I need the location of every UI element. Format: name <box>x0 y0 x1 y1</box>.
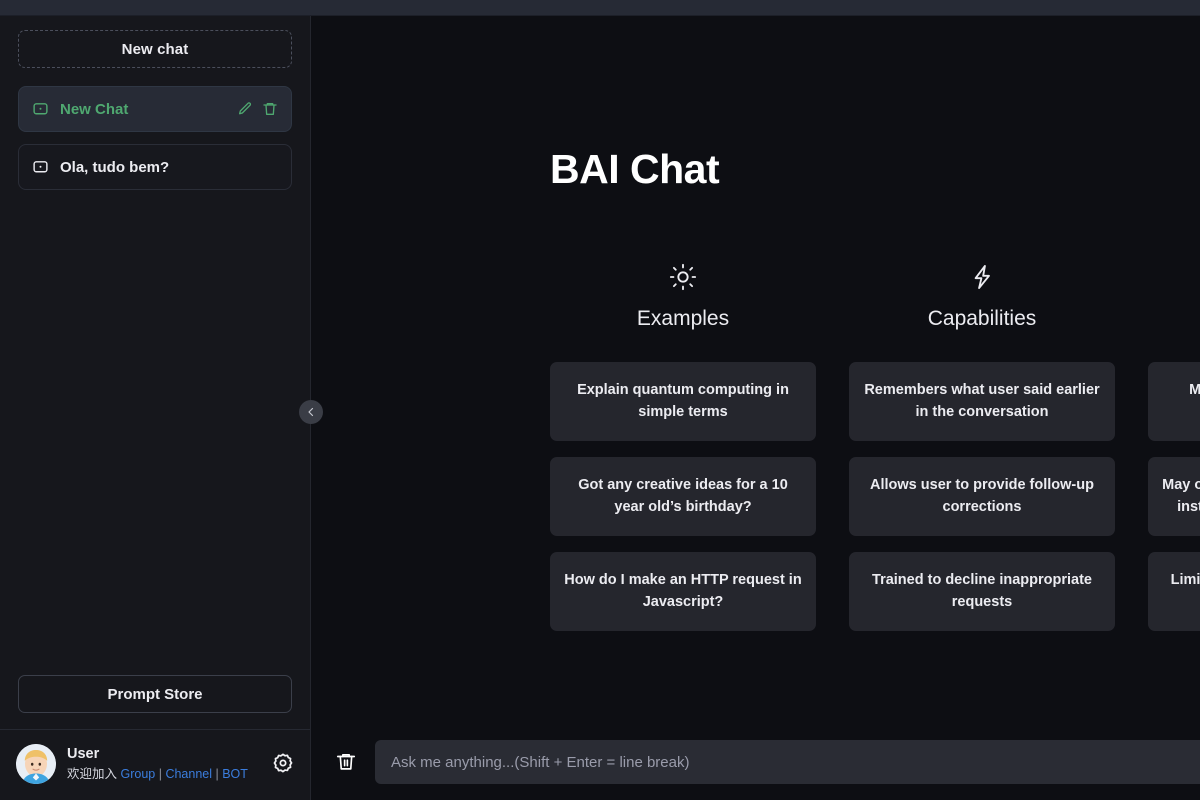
channel-link[interactable]: Channel <box>165 767 212 781</box>
message-input[interactable] <box>375 740 1200 784</box>
column-header: Capabilities <box>849 263 1115 331</box>
column-examples: Examples Explain quantum computing in si… <box>550 263 816 631</box>
main-content: BAI Chat Examples <box>311 16 1200 800</box>
chat-list-item-label: New Chat <box>60 101 226 118</box>
sidebar-header: New chat <box>0 16 310 68</box>
profile-name: User <box>67 744 261 765</box>
window-chrome-strip <box>0 0 1200 16</box>
limitation-card: Limited knowledge of world and events af… <box>1148 552 1200 631</box>
lightning-bolt-icon <box>968 263 996 291</box>
prompt-store-section: Prompt Store <box>0 675 310 729</box>
pencil-icon[interactable] <box>237 101 253 117</box>
group-link[interactable]: Group <box>120 767 155 781</box>
welcome-prefix: 欢迎加入 <box>67 767 120 781</box>
profile-subtitle: 欢迎加入 Group | Channel | BOT <box>67 765 261 783</box>
sun-icon <box>669 263 697 291</box>
new-chat-label: New chat <box>122 41 189 58</box>
prompt-store-label: Prompt Store <box>107 686 202 703</box>
column-capabilities: Capabilities Remembers what user said ea… <box>849 263 1115 631</box>
app-root: New chat New Chat <box>0 0 1200 800</box>
clear-conversation-trash-icon[interactable] <box>335 751 357 773</box>
column-title: Capabilities <box>928 307 1037 331</box>
column-limitations: Limitations May occasionally generate in… <box>1148 263 1200 631</box>
chat-list-item-label: Ola, tudo bem? <box>60 159 278 176</box>
profile-text: User 欢迎加入 Group | Channel | BOT <box>67 744 261 783</box>
prompt-store-button[interactable]: Prompt Store <box>18 675 292 713</box>
chat-bubble-icon <box>32 101 49 118</box>
link-separator: | <box>155 767 165 781</box>
column-header: Examples <box>550 263 816 331</box>
user-avatar[interactable] <box>16 744 56 784</box>
avatar-illustration <box>16 744 56 784</box>
example-card[interactable]: Got any creative ideas for a 10 year old… <box>550 457 816 536</box>
page-title: BAI Chat <box>550 146 880 193</box>
sidebar-collapse-button[interactable] <box>299 400 323 424</box>
column-cards: Remembers what user said earlier in the … <box>849 362 1115 631</box>
example-card[interactable]: Explain quantum computing in simple term… <box>550 362 816 441</box>
bot-link[interactable]: BOT <box>222 767 248 781</box>
column-cards: May occasionally generate incorrect info… <box>1148 362 1200 631</box>
capability-card: Remembers what user said earlier in the … <box>849 362 1115 441</box>
column-title: Examples <box>637 307 729 331</box>
new-chat-button[interactable]: New chat <box>18 30 292 68</box>
sidebar: New chat New Chat <box>0 16 311 800</box>
composer-bar <box>311 724 1200 800</box>
chat-list-item-ola-tudo-bem[interactable]: Ola, tudo bem? <box>18 144 292 190</box>
limitation-card: May occasionally generate incorrect info… <box>1148 362 1200 441</box>
feature-columns: Examples Explain quantum computing in si… <box>550 263 1200 631</box>
chat-bubble-icon <box>32 159 49 176</box>
example-card[interactable]: How do I make an HTTP request in Javascr… <box>550 552 816 631</box>
link-separator: | <box>212 767 222 781</box>
limitation-card: May occasionally produce harmful instruc… <box>1148 457 1200 536</box>
user-profile: User 欢迎加入 Group | Channel | BOT <box>0 729 310 800</box>
chat-list: New Chat <box>0 68 310 190</box>
capability-card: Trained to decline inappropriate request… <box>849 552 1115 631</box>
column-cards: Explain quantum computing in simple term… <box>550 362 816 631</box>
column-header: Limitations <box>1148 263 1200 331</box>
trash-icon[interactable] <box>262 101 278 117</box>
welcome-scroll-area: BAI Chat Examples <box>311 16 1200 724</box>
chat-list-item-new-chat[interactable]: New Chat <box>18 86 292 132</box>
capability-card: Allows user to provide follow-up correct… <box>849 457 1115 536</box>
welcome-panel: BAI Chat Examples <box>550 16 1200 631</box>
sidebar-spacer <box>0 190 310 675</box>
gear-icon[interactable] <box>272 752 294 774</box>
chat-item-actions <box>237 101 278 117</box>
chevron-left-icon <box>305 406 317 418</box>
